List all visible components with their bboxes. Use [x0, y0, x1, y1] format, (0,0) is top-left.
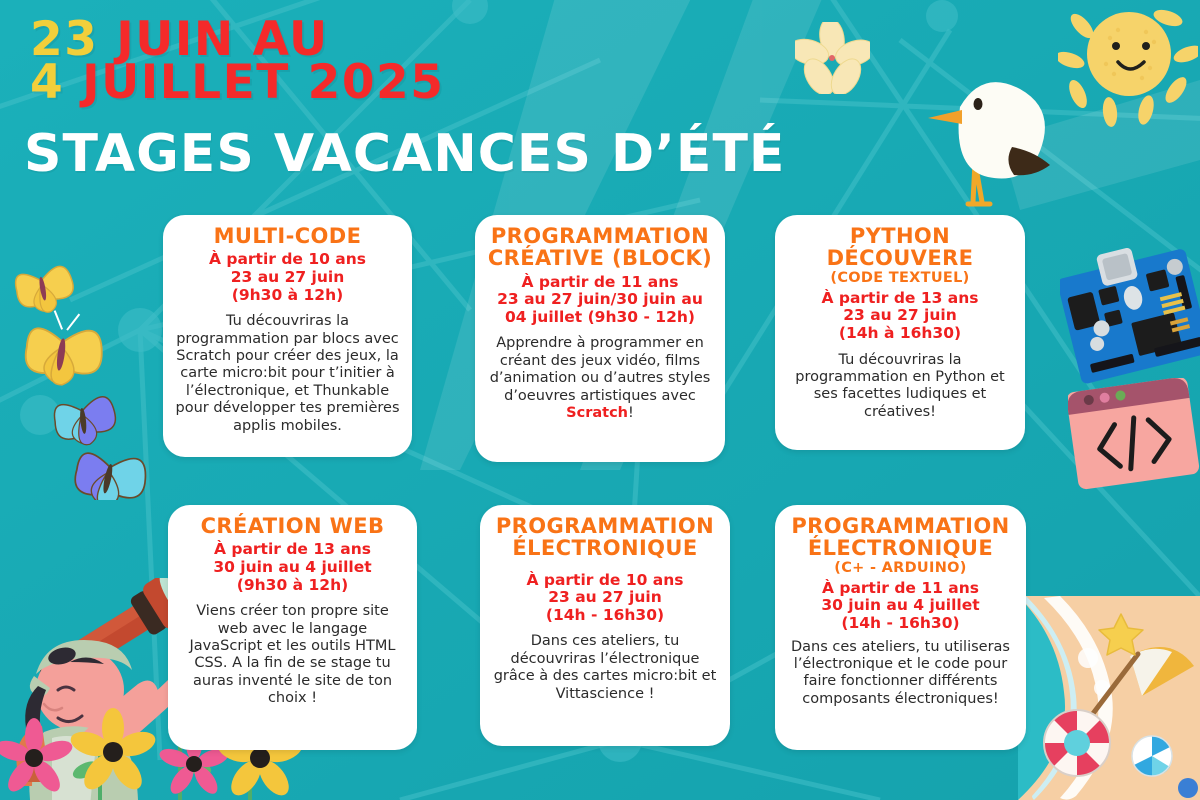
lifebuoy-icon — [1040, 706, 1114, 784]
poster-subtitle: STAGES VACANCES D’ÉTÉ — [24, 124, 785, 184]
card-meta: À partir de 10 ans 23 au 27 juin (9h30 à… — [175, 251, 400, 304]
sun-icon — [1058, 2, 1198, 131]
card-meta: À partir de 13 ans 30 juin au 4 juillet … — [180, 541, 405, 594]
card-title: CRÉATION WEB — [180, 515, 405, 537]
card-meta: À partir de 10 ans 23 au 27 juin (14h - … — [492, 572, 718, 625]
poster-headline: 23 JUIN AU 4 JUILLET 2025 — [30, 18, 444, 104]
card-description-text: Tu découvriras la programmation par bloc… — [176, 313, 400, 433]
star-icon — [1098, 612, 1144, 660]
card-description: Tu découvriras la programmation en Pytho… — [787, 352, 1013, 422]
course-card-programmation-electronique-arduino[interactable]: PROGRAMMATION ÉLECTRONIQUE (C+ - ARDUINO… — [775, 505, 1026, 750]
course-card-programmation-electronique[interactable]: PROGRAMMATION ÉLECTRONIQUE À partir de 1… — [480, 505, 730, 746]
course-card-creation-web[interactable]: CRÉATION WEB À partir de 13 ans 30 juin … — [168, 505, 417, 750]
course-card-programmation-creative[interactable]: PROGRAMMATION CRÉATIVE (BLOCK) À partir … — [475, 215, 725, 462]
card-description-suffix: ! — [628, 405, 634, 421]
card-description-text: Dans ces ateliers, tu découvriras l’élec… — [494, 633, 717, 701]
poster-canvas: 23 JUIN AU 4 JUILLET 2025 STAGES VACANCE… — [0, 0, 1200, 800]
card-description-highlight: Scratch — [566, 405, 628, 421]
butterfly-icon — [2, 250, 172, 504]
card-description: Apprendre à programmer en créant des jeu… — [487, 335, 713, 422]
course-card-multi-code[interactable]: MULTI-CODE À partir de 10 ans 23 au 27 j… — [163, 215, 412, 457]
card-subtitle: (CODE TEXTUEL) — [787, 271, 1013, 286]
card-description: Dans ces ateliers, tu utiliseras l’élect… — [787, 639, 1014, 709]
card-title: PROGRAMMATION ÉLECTRONIQUE — [787, 515, 1014, 560]
card-meta: À partir de 13 ans 23 au 27 juin (14h à … — [787, 290, 1013, 343]
code-window-icon — [1068, 378, 1200, 494]
flower-icon — [795, 22, 870, 98]
card-title: PROGRAMMATION ÉLECTRONIQUE — [492, 515, 718, 560]
card-description-text: Apprendre à programmer en créant des jeu… — [490, 335, 711, 403]
headline-line-2-text: JUILLET 2025 — [82, 55, 444, 110]
card-title: PYTHON DÉCOUVERE — [787, 225, 1013, 270]
card-description-text: Viens créer ton propre site web avec le … — [190, 603, 396, 706]
card-meta: À partir de 11 ans 23 au 27 juin/30 juin… — [487, 274, 713, 327]
seagull-icon — [920, 52, 1060, 214]
headline-end-date: 4 — [30, 55, 64, 110]
card-description: Tu découvriras la programmation par bloc… — [175, 313, 400, 435]
card-description: Dans ces ateliers, tu découvriras l’élec… — [492, 633, 718, 703]
card-subtitle: (C+ - ARDUINO) — [787, 561, 1014, 576]
card-meta: À partir de 11 ans 30 juin au 4 juillet … — [787, 580, 1014, 633]
card-description-text: Dans ces ateliers, tu utiliseras l’élect… — [791, 639, 1010, 707]
headline-line-2: 4 JUILLET 2025 — [30, 61, 444, 104]
card-description: Viens créer ton propre site web avec le … — [180, 603, 405, 707]
card-title: PROGRAMMATION CRÉATIVE (BLOCK) — [487, 225, 713, 270]
card-title: MULTI-CODE — [175, 225, 400, 247]
card-description-text: Tu découvriras la programmation en Pytho… — [795, 352, 1005, 420]
course-card-python-decouvere[interactable]: PYTHON DÉCOUVERE (CODE TEXTUEL) À partir… — [775, 215, 1025, 450]
